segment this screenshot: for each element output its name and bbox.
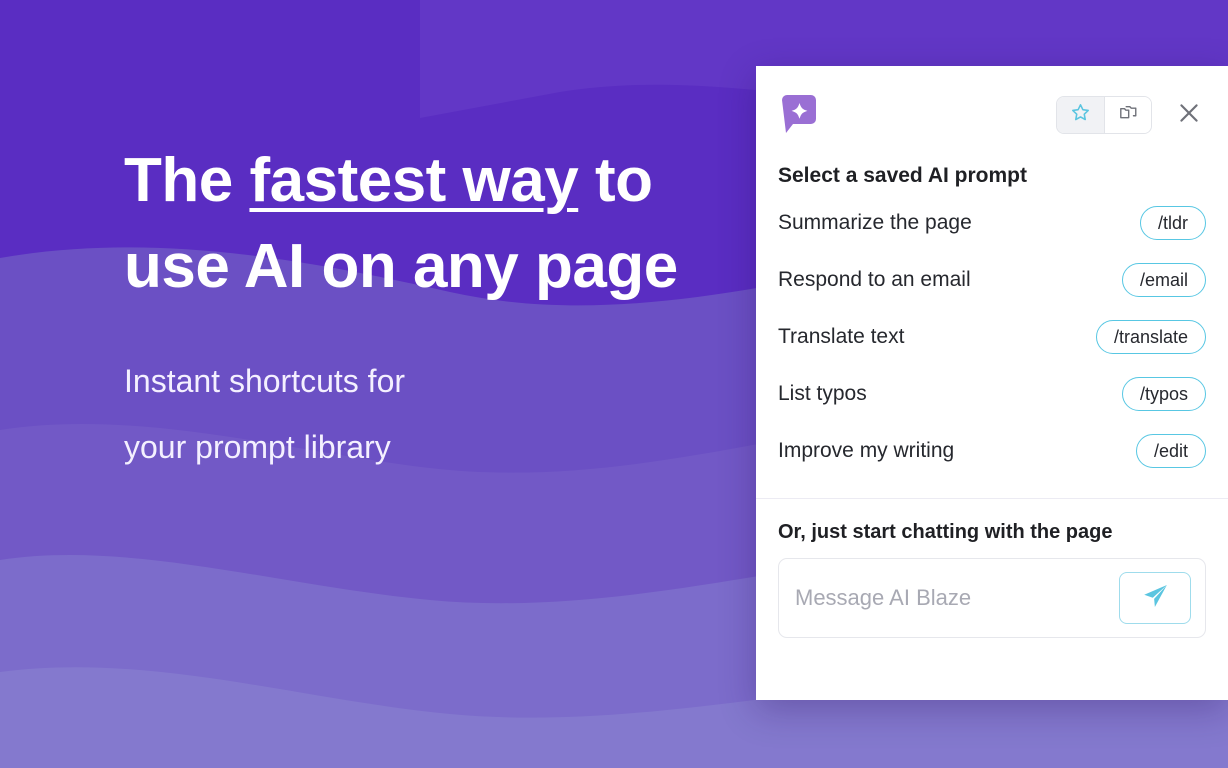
- headline-underlined-segment: fastest way: [249, 146, 578, 215]
- toggle-starred-prompts[interactable]: [1057, 97, 1104, 133]
- hero-subtitle: Instant shortcuts for your prompt librar…: [124, 349, 724, 480]
- prompt-row-summarize[interactable]: Summarize the page /tldr: [778, 194, 1206, 251]
- prompt-row-improve-writing[interactable]: Improve my writing /edit: [778, 422, 1206, 479]
- sparkle-speech-bubble-icon: [778, 94, 820, 136]
- hero-copy: The fastest way to use AI on any page In…: [124, 138, 724, 480]
- prompt-row-list-typos[interactable]: List typos /typos: [778, 365, 1206, 422]
- view-toggle-group[interactable]: [1056, 96, 1152, 134]
- headline-segment-1: The: [124, 146, 249, 215]
- prompt-label: Translate text: [778, 325, 1096, 349]
- close-icon: [1176, 100, 1202, 131]
- chat-section-title: Or, just start chatting with the page: [778, 521, 1206, 544]
- chat-section: Or, just start chatting with the page: [756, 499, 1228, 638]
- chat-message-input[interactable]: [795, 585, 1119, 611]
- saved-prompt-list: Summarize the page /tldr Respond to an e…: [756, 194, 1228, 479]
- star-icon: [1070, 102, 1091, 128]
- prompt-shortcut-badge: /tldr: [1140, 206, 1206, 240]
- send-paper-plane-icon: [1140, 581, 1170, 616]
- prompt-row-translate[interactable]: Translate text /translate: [778, 308, 1206, 365]
- panel-header: [756, 66, 1228, 164]
- chat-input-container[interactable]: [778, 558, 1206, 638]
- close-button[interactable]: [1172, 98, 1206, 132]
- prompt-label: Summarize the page: [778, 211, 1140, 235]
- prompt-row-respond-email[interactable]: Respond to an email /email: [778, 251, 1206, 308]
- send-message-button[interactable]: [1119, 572, 1191, 624]
- prompt-label: Respond to an email: [778, 268, 1122, 292]
- prompt-shortcut-badge: /typos: [1122, 377, 1206, 411]
- hero-subtitle-line-2: your prompt library: [124, 415, 724, 481]
- toggle-prompt-folders[interactable]: [1104, 97, 1151, 133]
- ai-prompt-panel: Select a saved AI prompt Summarize the p…: [756, 66, 1228, 700]
- hero-subtitle-line-1: Instant shortcuts for: [124, 349, 724, 415]
- prompt-shortcut-badge: /edit: [1136, 434, 1206, 468]
- prompt-shortcut-badge: /email: [1122, 263, 1206, 297]
- section-title: Select a saved AI prompt: [756, 164, 1228, 188]
- hero-headline: The fastest way to use AI on any page: [124, 138, 724, 309]
- prompt-label: List typos: [778, 382, 1122, 406]
- prompt-label: Improve my writing: [778, 439, 1136, 463]
- prompt-shortcut-badge: /translate: [1096, 320, 1206, 354]
- folder-icon: [1118, 102, 1139, 128]
